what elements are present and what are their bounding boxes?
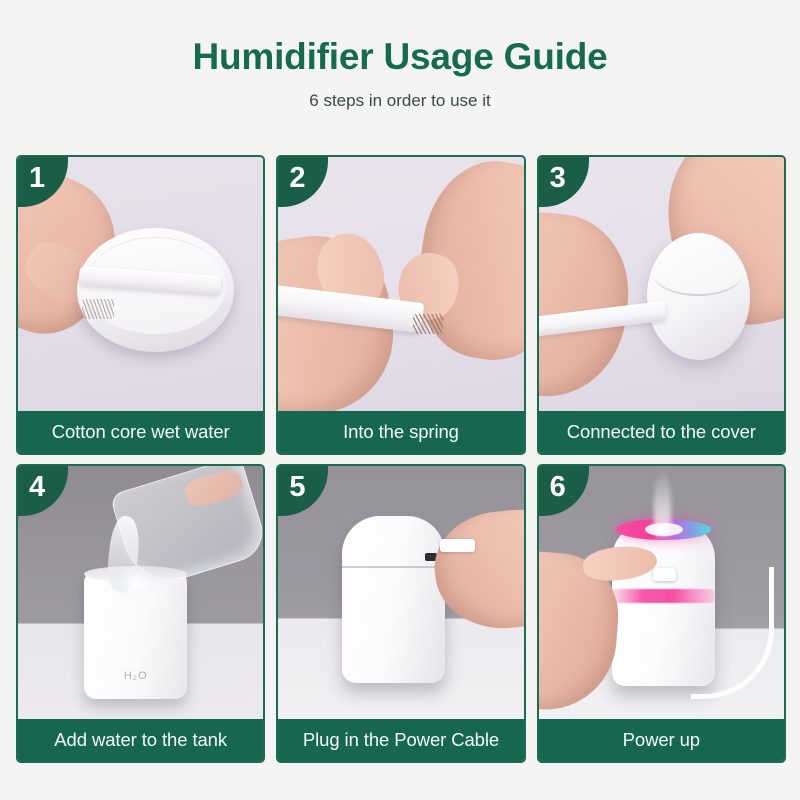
step-photo-3: 3 xyxy=(539,157,784,411)
step-number-badge-6: 6 xyxy=(539,466,589,516)
step-photo-1: 1 xyxy=(18,157,263,411)
cover-rim xyxy=(653,251,744,297)
step-caption-2: Into the spring xyxy=(278,411,523,453)
step-caption-1: Cotton core wet water xyxy=(18,411,263,453)
spring-coil-illustration xyxy=(82,299,114,319)
step-photo-6: 6 xyxy=(539,466,784,720)
tank-h2o-label: H₂O xyxy=(84,670,187,682)
step-caption-4: Add water to the tank xyxy=(18,719,263,761)
body-seam-line xyxy=(342,566,445,568)
page-title: Humidifier Usage Guide xyxy=(0,38,800,77)
step-card-3[interactable]: 3 Connected to the cover xyxy=(537,155,786,455)
step-card-5[interactable]: 5 Plug in the Power Cable xyxy=(276,464,525,764)
humidifier-cover-illustration xyxy=(647,233,750,360)
step-photo-5: 5 xyxy=(278,466,523,720)
step-number-badge-5: 5 xyxy=(278,466,328,516)
left-hand-illustration xyxy=(539,205,636,403)
step-card-6[interactable]: 6 Power up xyxy=(537,464,786,764)
power-button-icon[interactable] xyxy=(653,568,676,581)
step-photo-4: 4 H₂O xyxy=(18,466,263,720)
steps-grid: 1 Cotton core wet water 2 Into the sprin… xyxy=(16,155,786,763)
usb-plug-illustration xyxy=(440,539,474,552)
page-header: Humidifier Usage Guide 6 steps in order … xyxy=(0,0,800,111)
step-caption-6: Power up xyxy=(539,719,784,761)
spring-coil-illustration xyxy=(413,314,442,334)
step-photo-2: 2 xyxy=(278,157,523,411)
humidifier-body-illustration xyxy=(342,516,445,683)
step-number-badge-2: 2 xyxy=(278,157,328,207)
step-card-1[interactable]: 1 Cotton core wet water xyxy=(16,155,265,455)
hand-illustration xyxy=(183,467,245,510)
step-card-2[interactable]: 2 Into the spring xyxy=(276,155,525,455)
step-caption-5: Plug in the Power Cable xyxy=(278,719,523,761)
step-number-badge-3: 3 xyxy=(539,157,589,207)
step-caption-3: Connected to the cover xyxy=(539,411,784,453)
step-card-4[interactable]: 4 H₂O Add water to the tank xyxy=(16,464,265,764)
power-cable-illustration xyxy=(691,567,774,699)
step-number-badge-4: 4 xyxy=(18,466,68,516)
page-subtitle: 6 steps in order to use it xyxy=(0,91,800,111)
mist-illustration xyxy=(654,471,671,537)
